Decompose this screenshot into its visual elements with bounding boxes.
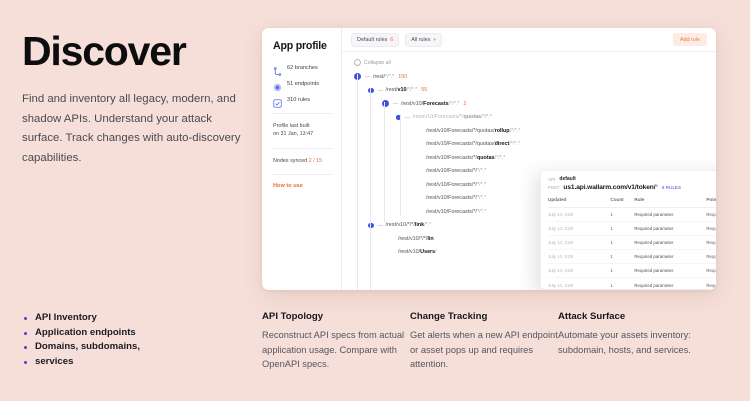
feature-title: Change Tracking — [410, 311, 558, 323]
tree-path-segment: Forecasts — [423, 101, 448, 107]
cell-point-type: Required — [706, 207, 716, 221]
hero-block: Discover Find and inventory all legacy, … — [22, 28, 247, 168]
table-row[interactable]: July 14, 3:281Required parameterRequired… — [548, 278, 716, 290]
tree-path-prefix: /rest/ — [386, 87, 398, 93]
feature-body: Automate your assets inventory: subdomai… — [558, 328, 718, 357]
cell-updated: July 14, 3:28 — [548, 207, 610, 221]
sidebar-divider-2 — [273, 148, 332, 149]
tree-path: /rest/v10/Forecasts/*/quotas/rollup/*/*.… — [426, 128, 520, 134]
endpoint-detail-overlay: API default POST us1.api.wallarm.com/v1/… — [540, 170, 716, 290]
overlay-url-main: us1.api.wallarm.com/v1/token/ — [563, 184, 655, 191]
all-rules-dropdown[interactable]: All rules ▾ — [405, 33, 441, 47]
stat-branches-label: 62 branches — [287, 65, 318, 71]
tree-path: /rest/v10/Forecasts/*/quotas/*/*.* — [413, 114, 492, 120]
cell-rule: Required parameter — [634, 221, 706, 235]
tree-path-suffix: / — [435, 249, 437, 255]
branches-icon — [273, 63, 282, 72]
rules-icon — [273, 95, 282, 104]
tree-guide-line-3 — [384, 102, 385, 222]
tree-path-prefix: /rest/v10/Forecasts/*/quotas/ — [426, 141, 495, 147]
hero-description: Find and inventory all legacy, modern, a… — [22, 90, 247, 168]
tree-path: /rest/v10/Forecasts/*/*.* — [401, 101, 459, 107]
tree-path-segment: quotas — [477, 155, 495, 161]
tree-path-suffix: /*/*.* — [406, 87, 417, 93]
tree-path-prefix: /rest/v10/Forecasts/*/ — [426, 182, 477, 188]
list-item: Application endpoints — [22, 326, 252, 341]
sidebar-divider-1 — [273, 113, 332, 114]
profile-built-line1: Profile last built — [273, 122, 332, 130]
app-profile-title: App profile — [273, 40, 332, 52]
cell-rule: Required parameter — [634, 250, 706, 264]
table-row[interactable]: July 14, 3:281Required parameterRequired… — [548, 235, 716, 249]
list-item: services — [22, 355, 252, 370]
all-rules-label: All rules — [411, 37, 430, 43]
tree-row[interactable]: /rest/v10/Forecasts/*/*.*2 — [354, 97, 716, 111]
cell-rule: Required parameter — [634, 235, 706, 249]
list-item: API Inventory — [22, 311, 252, 326]
table-row[interactable]: July 14, 3:281Required parameterRequired… — [548, 250, 716, 264]
overlay-url: us1.api.wallarm.com/v1/token/* — [563, 184, 657, 191]
feature-bullet-list: API InventoryApplication endpointsDomain… — [22, 311, 252, 369]
profile-built-line2: on 31 Jan, 13:47 — [273, 130, 332, 138]
default-rules-label: Default rules — [357, 37, 387, 43]
tree-connector — [378, 225, 383, 226]
tree-path-prefix: /rest/v10/Forecasts/*/ — [426, 195, 477, 201]
tree-path-segment: rollup — [495, 128, 510, 134]
tree-path: /rest/v10/Forecasts/*/*/*.* — [426, 209, 486, 215]
overlay-column-header[interactable]: Rule — [634, 197, 706, 208]
feature-body: Reconstruct API specs from actual applic… — [262, 328, 410, 372]
cell-updated: July 14, 3:28 — [548, 221, 610, 235]
stat-endpoints: 51 endpoints — [273, 79, 332, 88]
tree-path-suffix: /*/*.* — [509, 141, 520, 147]
tree-path-segment: link — [415, 222, 424, 228]
cell-rule: Required parameter — [634, 264, 706, 278]
tree-path-suffix: /*.* — [424, 222, 431, 228]
tree-path: /rest/v10/*/*/lin — [398, 236, 434, 242]
cell-rule: Required parameter — [634, 207, 706, 221]
feature-title: Attack Surface — [558, 311, 718, 323]
tree-path-suffix: */*.* — [477, 209, 486, 215]
tree-row[interactable]: /rest/v10/*/*.*55 — [354, 84, 716, 98]
tree-path: /rest/v10/Forecasts/*/quotas/*/*.* — [426, 155, 505, 161]
tree-guide-line-4 — [400, 116, 401, 216]
app-screenshot-card: App profile 62 branches 51 endpoints 310… — [262, 28, 716, 290]
cell-rule: Required parameter — [634, 278, 706, 290]
tree-path-prefix: /rest/ — [373, 74, 385, 80]
tree-path-suffix: */*.* — [477, 168, 486, 174]
cell-point-type: Required — [706, 221, 716, 235]
table-row[interactable]: July 14, 3:281Required parameterRequired… — [548, 221, 716, 235]
overlay-api-line: API default — [548, 176, 716, 182]
app-sidebar: App profile 62 branches 51 endpoints 310… — [262, 28, 342, 290]
tree-path: /rest/v10/Forecasts/*/*/*.* — [426, 195, 486, 201]
table-row[interactable]: July 14, 3:281Required parameterRequired… — [548, 264, 716, 278]
tree-path-suffix: /*/*.* — [449, 101, 460, 107]
tree-path-prefix: /rest/v10/Forecasts/*/ — [413, 114, 464, 120]
overlay-column-header[interactable]: Updated — [548, 197, 610, 208]
chevron-down-icon: ▾ — [433, 37, 435, 43]
tree-connector — [365, 76, 370, 77]
cell-point-type: Required — [706, 250, 716, 264]
cell-updated: July 14, 3:28 — [548, 250, 610, 264]
tree-path-prefix: /rest/v10/Forecasts/*/quotas/ — [426, 128, 495, 134]
stat-endpoints-label: 51 endpoints — [287, 81, 319, 87]
default-rules-chip[interactable]: Default rules 6 — [351, 33, 399, 47]
overlay-api-value: default — [559, 176, 575, 182]
profile-last-built: Profile last built on 31 Jan, 13:47 — [273, 122, 332, 139]
feature-columns: API TopologyReconstruct API specs from a… — [262, 311, 732, 372]
nodes-synced-label: Nodes synced — [273, 158, 307, 164]
tree-path: /rest/v10/Forecasts/*/*/*.* — [426, 182, 486, 188]
tree-path: /rest/v10/Users/ — [398, 249, 437, 255]
tree-path-suffix: /*/*.* — [481, 114, 492, 120]
tree-guide-line-1 — [357, 74, 358, 290]
add-rule-button[interactable]: Add rule — [673, 33, 707, 46]
tree-path-segment: direct — [495, 141, 510, 147]
page-title: Discover — [22, 28, 247, 74]
cell-point-type: Required — [706, 235, 716, 249]
page-root: Discover Find and inventory all legacy, … — [0, 0, 750, 401]
tree-path-prefix: /rest/v10/ — [401, 101, 423, 107]
tree-path-prefix: /rest/v10/Forecasts/*/ — [426, 155, 477, 161]
feature-title: API Topology — [262, 311, 410, 323]
table-row[interactable]: July 14, 3:281Required parameterRequired… — [548, 207, 716, 221]
cell-count: 1 — [610, 221, 634, 235]
tree-connector — [393, 103, 398, 104]
tree-count: 2 — [463, 101, 466, 107]
tree-path: /rest/*/*.* — [373, 74, 394, 80]
overlay-api-label: API — [548, 177, 555, 182]
tree-path-suffix: */*.* — [385, 74, 394, 80]
tree-path-prefix: /rest/v10/*/*/ — [386, 222, 415, 228]
overlay-table-header-row: UpdatedCountRulePoint typePoint ▾ — [548, 197, 716, 208]
tree-connector — [378, 90, 383, 91]
tree-path-segment: quotas — [463, 114, 481, 120]
feature-column: Change TrackingGet alerts when a new API… — [410, 311, 558, 372]
tree-path-suffix: /*/*.* — [510, 128, 521, 134]
cell-count: 1 — [610, 264, 634, 278]
tree-path-suffix: /*/*.* — [495, 155, 506, 161]
tree-path-prefix: /rest/v10/Forecasts/*/ — [426, 168, 477, 174]
tree-guide-line-2 — [370, 88, 371, 290]
cell-count: 1 — [610, 207, 634, 221]
stat-branches: 62 branches — [273, 63, 332, 72]
overlay-column-header[interactable]: Point type — [706, 197, 716, 208]
list-item: Domains, subdomains, — [22, 340, 252, 355]
overlay-column-header[interactable]: Count — [610, 197, 634, 208]
cell-count: 1 — [610, 250, 634, 264]
cell-count: 1 — [610, 235, 634, 249]
tree-path: /rest/v10/Forecasts/*/*/*.* — [426, 168, 486, 174]
overlay-rules-badge: 6 RULES — [662, 185, 681, 190]
overlay-method: POST — [548, 185, 559, 190]
overlay-url-wildcard: * — [655, 184, 657, 191]
tree-path-prefix: /rest/v10/Forecasts/*/ — [426, 209, 477, 215]
tree-count: 55 — [421, 87, 427, 93]
endpoints-icon — [273, 79, 282, 88]
cell-point-type: Required — [706, 278, 716, 290]
app-main-pane: Default rules 6 All rules ▾ Add rule Col… — [342, 28, 716, 290]
tree-path-prefix: /rest/v10/*/*/ — [398, 236, 427, 242]
tree-path-segment: lin — [427, 236, 433, 242]
nodes-synced-value: 2 / 15 — [309, 158, 323, 164]
app-toolbar: Default rules 6 All rules ▾ Add rule — [342, 28, 716, 52]
overlay-url-line: POST us1.api.wallarm.com/v1/token/* 6 RU… — [548, 184, 716, 191]
feature-column: Attack SurfaceAutomate your assets inven… — [558, 311, 718, 372]
collapse-all-control[interactable]: Collapse all — [342, 52, 716, 70]
tree-path: /rest/v10/Forecasts/*/quotas/direct/*/*.… — [426, 141, 520, 147]
cell-count: 1 — [610, 278, 634, 290]
feature-body: Get alerts when a new API endpoint or as… — [410, 328, 558, 372]
stat-rules: 310 rules — [273, 95, 332, 104]
default-rules-count: 6 — [390, 37, 393, 43]
overlay-table-body: July 14, 3:281Required parameterRequired… — [548, 207, 716, 290]
cell-updated: July 14, 3:28 — [548, 278, 610, 290]
overlay-rules-table: UpdatedCountRulePoint typePoint ▾ July 1… — [548, 197, 716, 291]
nodes-synced: Nodes synced 2 / 15 — [273, 157, 332, 165]
tree-row[interactable]: /rest/v10/Forecasts/*/quotas/rollup/*/*.… — [354, 124, 716, 138]
tree-row[interactable]: /rest/v10/Forecasts/*/quotas/*/*.* — [354, 151, 716, 165]
cell-point-type: Required — [706, 264, 716, 278]
sidebar-divider-3 — [273, 174, 332, 175]
feature-column: API TopologyReconstruct API specs from a… — [262, 311, 410, 372]
tree-connector — [405, 117, 410, 118]
collapse-all-label: Collapse all — [364, 60, 391, 66]
tree-path-segment: Users — [420, 249, 435, 255]
cell-updated: July 14, 3:28 — [548, 264, 610, 278]
tree-path: /rest/v10/*/*.* — [386, 87, 418, 93]
how-to-use-link[interactable]: How to use — [273, 183, 332, 189]
collapse-icon — [354, 59, 361, 66]
tree-path-suffix: */*.* — [477, 195, 486, 201]
tree-row[interactable]: /rest/*/*.*150 — [354, 70, 716, 84]
tree-path-suffix: */*.* — [477, 182, 486, 188]
tree-path-prefix: /rest/v10/ — [398, 249, 420, 255]
stat-rules-label: 310 rules — [287, 97, 310, 103]
tree-row[interactable]: /rest/v10/Forecasts/*/quotas/*/*.* — [354, 111, 716, 125]
tree-row[interactable]: /rest/v10/Forecasts/*/quotas/direct/*/*.… — [354, 138, 716, 152]
cell-updated: July 14, 3:28 — [548, 235, 610, 249]
tree-path: /rest/v10/*/*/link/*.* — [386, 222, 432, 228]
tree-count: 150 — [398, 74, 407, 80]
